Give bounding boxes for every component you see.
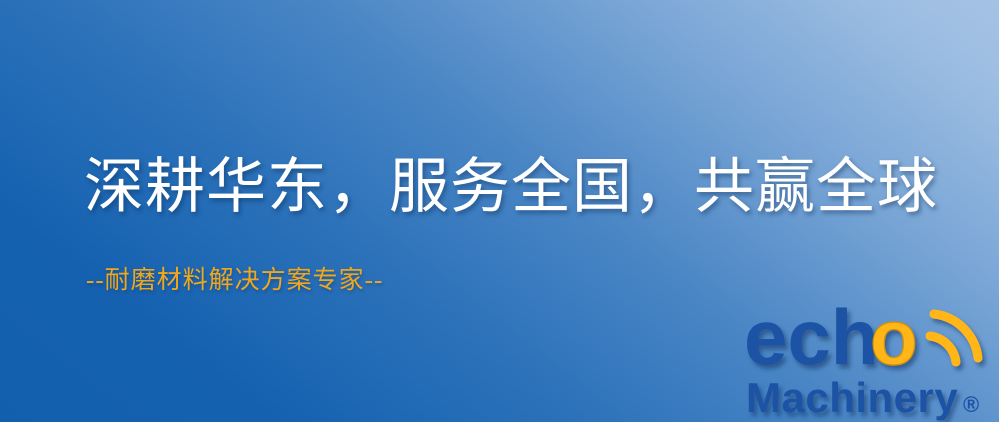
- logo-wordmark-ech: ech: [744, 296, 878, 381]
- logo-tagline: Machinery: [746, 374, 958, 421]
- hero-banner: 深耕华东，服务全国，共赢全球 --耐磨材料解决方案专家-- ech o Mach…: [0, 0, 999, 422]
- banner-subtitle: --耐磨材料解决方案专家--: [86, 265, 383, 297]
- signal-waves-icon: [930, 314, 978, 362]
- logo-trademark-symbol: ®: [963, 392, 979, 417]
- logo-wordmark-o: o: [870, 296, 918, 381]
- banner-headline: 深耕华东，服务全国，共赢全球: [84, 150, 938, 224]
- echo-machinery-logo[interactable]: ech o Machinery ®: [744, 296, 999, 422]
